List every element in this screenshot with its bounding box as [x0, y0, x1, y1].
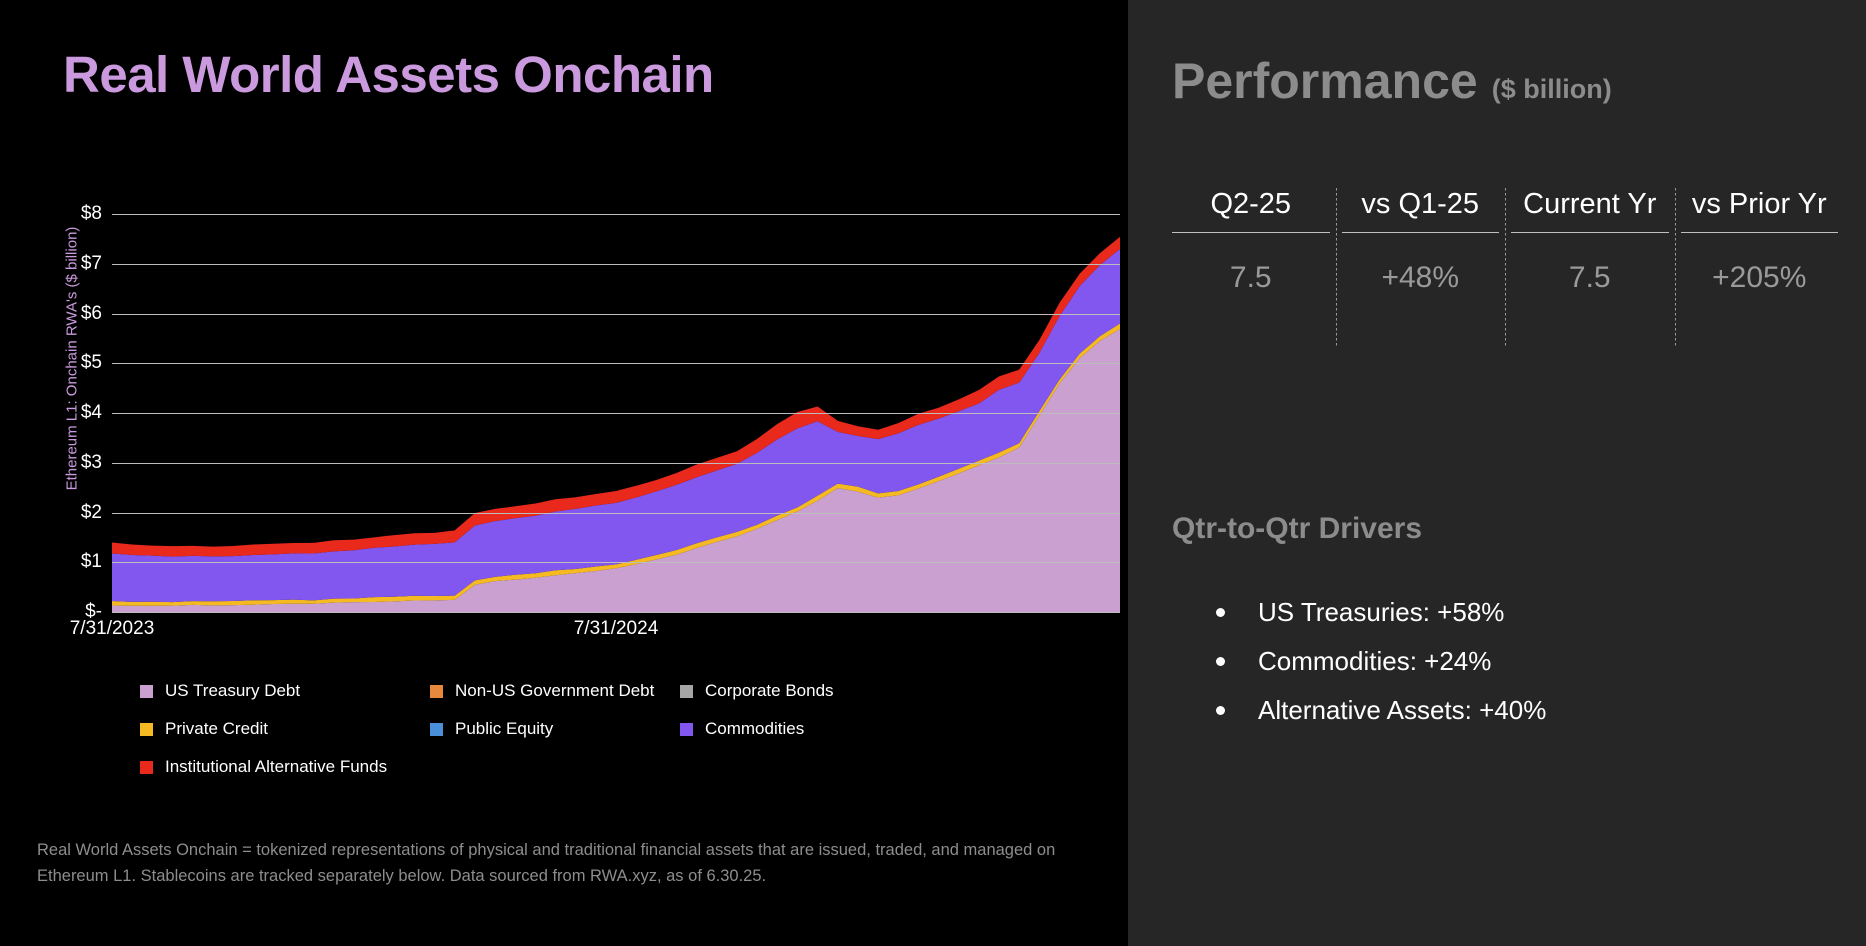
drivers-list: US Treasuries: +58% Commodities: +24% Al…	[1216, 588, 1836, 735]
y-axis-tick-labels: $-$1$2$3$4$5$6$7$8	[50, 200, 110, 612]
legend-label: Corporate Bonds	[705, 681, 834, 701]
page-title: Real World Assets Onchain	[63, 45, 714, 104]
y-axis-tick-label: $4	[81, 402, 102, 424]
legend-row: Private Credit Public Equity Commodities	[140, 710, 1040, 748]
legend-swatch-icon	[680, 685, 693, 698]
y-axis-tick-label: $6	[81, 303, 102, 325]
x-axis-tick-label: 7/31/2023	[70, 618, 155, 640]
performance-column-current-yr: Current Yr 7.5	[1505, 188, 1675, 295]
driver-label: US Treasuries: +58%	[1258, 597, 1504, 628]
legend-item-us-treasury-debt[interactable]: US Treasury Debt	[140, 681, 430, 701]
legend-label: Non-US Government Debt	[455, 681, 654, 701]
performance-unit: ($ billion)	[1492, 74, 1612, 105]
right-panel: Performance ($ billion) Q2-25 7.5 vs Q1-…	[1128, 0, 1866, 946]
rwa-stacked-area-chart: Ethereum L1: Onchain RWA's ($ billion) $…	[50, 200, 1080, 640]
legend-row: US Treasury Debt Non-US Government Debt …	[140, 672, 1040, 710]
gridline	[112, 314, 1120, 315]
legend-row: Institutional Alternative Funds	[140, 748, 1040, 786]
slide-root: Real World Assets Onchain Ethereum L1: O…	[0, 0, 1866, 946]
legend-swatch-icon	[140, 723, 153, 736]
column-value: 7.5	[1166, 233, 1336, 295]
y-axis-tick-label: $7	[81, 253, 102, 275]
y-axis-tick-label: $5	[81, 352, 102, 374]
performance-table-columns: Q2-25 7.5 vs Q1-25 +48% Current Yr 7.5 v…	[1166, 188, 1844, 295]
legend-label: US Treasury Debt	[165, 681, 300, 701]
column-value: +48%	[1336, 233, 1506, 295]
x-axis-tick-labels: 7/31/20237/31/2024	[112, 618, 1120, 648]
legend-label: Institutional Alternative Funds	[165, 757, 387, 777]
list-item: Alternative Assets: +40%	[1216, 686, 1836, 735]
y-axis-tick-label: $1	[81, 551, 102, 573]
column-header: vs Q1-25	[1336, 188, 1506, 232]
performance-header: Performance ($ billion)	[1172, 52, 1612, 110]
drivers-title: Qtr-to-Qtr Drivers	[1172, 512, 1422, 546]
bullet-icon	[1216, 706, 1225, 715]
left-panel: Real World Assets Onchain Ethereum L1: O…	[0, 0, 1128, 946]
y-axis-tick-label: $3	[81, 452, 102, 474]
column-header: Current Yr	[1505, 188, 1675, 232]
performance-column-q2-25: Q2-25 7.5	[1166, 188, 1336, 295]
gridline	[112, 363, 1120, 364]
column-value: +205%	[1675, 233, 1845, 295]
legend-item-commodities[interactable]: Commodities	[680, 719, 930, 739]
legend-label: Public Equity	[455, 719, 553, 739]
footnote-text: Real World Assets Onchain = tokenized re…	[37, 838, 1107, 889]
legend-item-corporate-bonds[interactable]: Corporate Bonds	[680, 681, 930, 701]
column-header: Q2-25	[1166, 188, 1336, 232]
legend-label: Commodities	[705, 719, 804, 739]
legend-swatch-icon	[680, 723, 693, 736]
y-axis-tick-label: $2	[81, 502, 102, 524]
bullet-icon	[1216, 657, 1225, 666]
column-header: vs Prior Yr	[1675, 188, 1845, 232]
legend-item-public-equity[interactable]: Public Equity	[430, 719, 680, 739]
legend-swatch-icon	[430, 723, 443, 736]
y-axis-tick-label: $8	[81, 203, 102, 225]
performance-column-vs-q1-25: vs Q1-25 +48%	[1336, 188, 1506, 295]
list-item: US Treasuries: +58%	[1216, 588, 1836, 637]
gridline	[112, 463, 1120, 464]
list-item: Commodities: +24%	[1216, 637, 1836, 686]
gridline	[112, 413, 1120, 414]
performance-table: Q2-25 7.5 vs Q1-25 +48% Current Yr 7.5 v…	[1166, 188, 1844, 348]
driver-label: Alternative Assets: +40%	[1258, 695, 1546, 726]
gridline	[112, 214, 1120, 215]
x-axis-tick-label: 7/31/2024	[574, 618, 659, 640]
plot-area	[112, 214, 1120, 612]
legend-swatch-icon	[140, 685, 153, 698]
driver-label: Commodities: +24%	[1258, 646, 1491, 677]
performance-column-vs-prior-yr: vs Prior Yr +205%	[1675, 188, 1845, 295]
gridline	[112, 264, 1120, 265]
legend-item-non-us-government-debt[interactable]: Non-US Government Debt	[430, 681, 680, 701]
gridline	[112, 562, 1120, 563]
bullet-icon	[1216, 608, 1225, 617]
chart-legend: US Treasury Debt Non-US Government Debt …	[140, 672, 1040, 786]
legend-swatch-icon	[140, 761, 153, 774]
legend-swatch-icon	[430, 685, 443, 698]
gridline	[112, 513, 1120, 514]
performance-title: Performance	[1172, 52, 1478, 110]
legend-label: Private Credit	[165, 719, 268, 739]
x-axis-line	[112, 612, 1120, 613]
column-value: 7.5	[1505, 233, 1675, 295]
legend-item-institutional-alternative-funds[interactable]: Institutional Alternative Funds	[140, 757, 430, 777]
legend-item-private-credit[interactable]: Private Credit	[140, 719, 430, 739]
